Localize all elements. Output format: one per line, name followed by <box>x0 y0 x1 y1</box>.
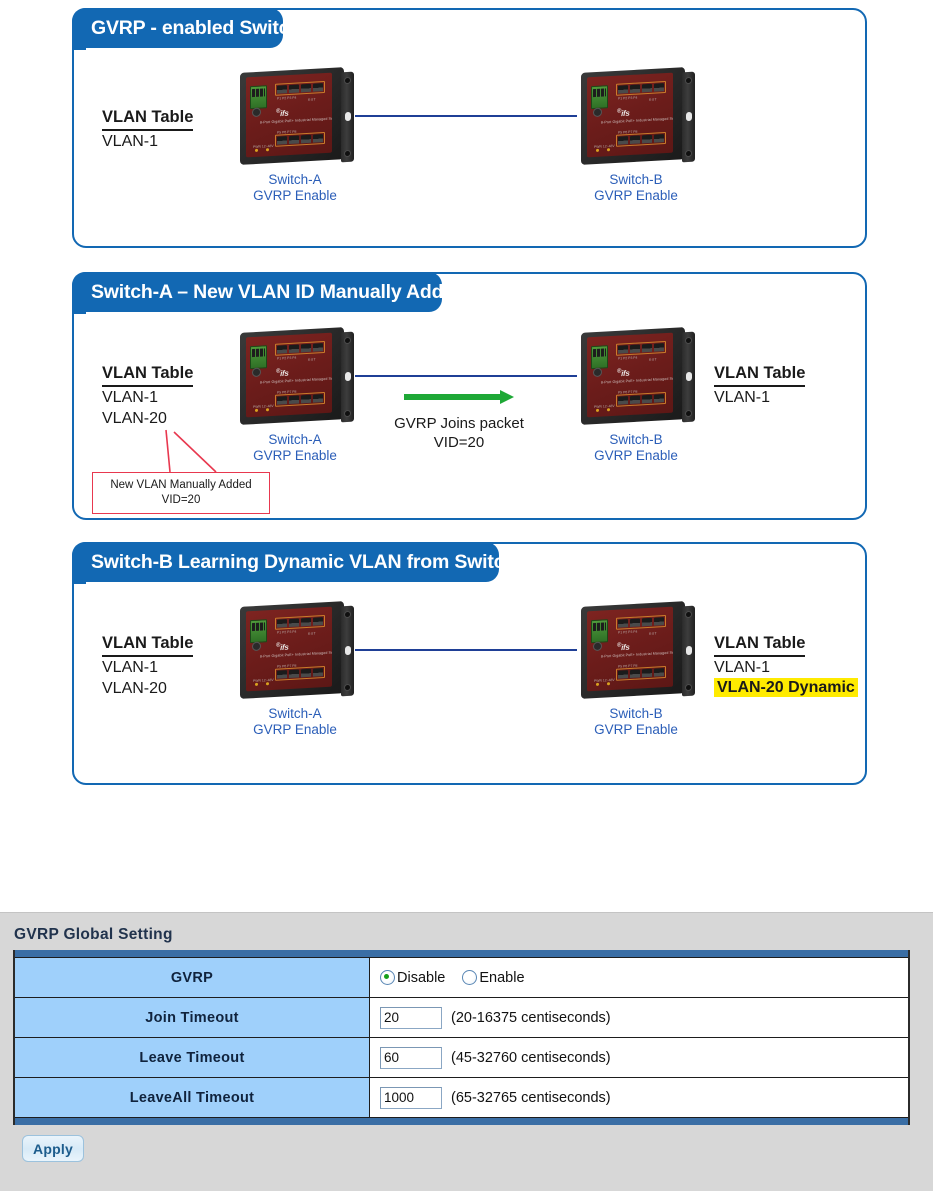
device-reset-label: RST <box>649 357 657 361</box>
link-line-a-to-b <box>355 115 577 117</box>
diagram-panel-switch-b-learning-dynamic-vlan: Switch-B Learning Dynamic VLAN from Swit… <box>72 542 867 785</box>
diagram-panel-new-vlan-manually-added: Switch-A – New VLAN ID Manually Added VL… <box>72 272 867 520</box>
vlan-table-left: VLAN Table VLAN-1 <box>102 108 193 152</box>
link-line-a-to-b <box>355 375 577 377</box>
callout-line-1: New VLAN Manually Added <box>101 478 261 493</box>
switch-device-b-image: P1 P2 P3 P4 P5 P6 P7 P8 RST PWR 12~48V ®… <box>577 602 695 700</box>
panel-body: VLAN Table VLAN-1 P1 P2 P3 P4 P5 P6 P7 P… <box>74 50 865 246</box>
switch-b-state: GVRP Enable <box>575 448 697 464</box>
table-bottom-band <box>14 1118 909 1126</box>
switch-b-name: Switch-B <box>575 172 697 188</box>
gvrp-radio-group[interactable]: Disable Enable <box>380 970 907 986</box>
gvrp-join-label: GVRP Joins packet VID=20 <box>380 414 538 452</box>
device-model-text: 8-Port Gigabit PoE+ Industrial Managed S… <box>601 117 669 125</box>
link-line-a-to-b <box>355 649 577 651</box>
switch-a-caption: Switch-A GVRP Enable <box>234 432 356 464</box>
switch-a-name: Switch-A <box>234 432 356 448</box>
gvrp-global-setting-panel: GVRP Global Setting GVRP Disable Enable <box>0 912 933 1191</box>
switch-b-name: Switch-B <box>575 432 697 448</box>
vlan-table-row: VLAN-1 <box>714 387 805 408</box>
device-reset-label: RST <box>308 97 316 101</box>
switch-a-state: GVRP Enable <box>234 188 356 204</box>
vlan-table-heading: VLAN Table <box>102 634 193 657</box>
table-row-leaveall-timeout: LeaveAll Timeout (65-32765 centiseconds) <box>14 1078 909 1118</box>
join-timeout-input[interactable] <box>380 1007 442 1029</box>
ifs-logo: ®ifs <box>276 368 289 378</box>
ifs-logo: ®ifs <box>617 108 630 118</box>
device-model-text: 8-Port Gigabit PoE+ Industrial Managed S… <box>260 377 328 385</box>
ifs-logo: ®ifs <box>617 642 630 652</box>
callout-new-vlan: New VLAN Manually Added VID=20 <box>92 472 270 514</box>
device-model-text: 8-Port Gigabit PoE+ Industrial Managed S… <box>601 651 669 659</box>
vlan-table-heading: VLAN Table <box>714 364 805 387</box>
device-reset-label: RST <box>308 631 316 635</box>
device-reset-label: RST <box>308 357 316 361</box>
switch-device-a-image: P1 P2 P3 P4 P5 P6 P7 P8 RST PWR 12~48V ®… <box>236 68 354 166</box>
device-model-text: 8-Port Gigabit PoE+ Industrial Managed S… <box>601 377 669 385</box>
switch-device-a-image: P1 P2 P3 P4 P5 P6 P7 P8 RST PWR 12~48V ®… <box>236 328 354 426</box>
diagram-panel-gvrp-enabled-switches: GVRP - enabled Switches VLAN Table VLAN-… <box>72 8 867 248</box>
leave-timeout-input[interactable] <box>380 1047 442 1069</box>
table-row-join-timeout: Join Timeout (20-16375 centiseconds) <box>14 998 909 1038</box>
leaveall-timeout-input[interactable] <box>380 1087 442 1109</box>
radio-enable-label: Enable <box>479 970 524 986</box>
ifs-logo: ®ifs <box>276 642 289 652</box>
switch-device-b-image: P1 P2 P3 P4 P5 P6 P7 P8 RST PWR 12~48V ®… <box>577 68 695 166</box>
vlan-table-row: VLAN-1 <box>102 131 193 152</box>
row-label-leaveall-timeout: LeaveAll Timeout <box>14 1078 370 1118</box>
vlan-table-right: VLAN Table VLAN-1 <box>714 364 805 408</box>
row-value-leave-timeout: (45-32760 centiseconds) <box>370 1038 910 1078</box>
switch-a-caption: Switch-A GVRP Enable <box>234 172 356 204</box>
panel-title: Switch-A – New VLAN ID Manually Added <box>72 272 442 312</box>
table-top-band <box>14 950 909 958</box>
radio-option-disable[interactable]: Disable <box>380 970 445 986</box>
device-model-text: 8-Port Gigabit PoE+ Industrial Managed S… <box>260 651 328 659</box>
callout-line-2: VID=20 <box>101 493 261 508</box>
gvrp-settings-table: GVRP Disable Enable Join Timeout <box>13 950 910 1125</box>
ifs-logo: ®ifs <box>276 108 289 118</box>
radio-disable-label: Disable <box>397 970 445 986</box>
device-reset-label: RST <box>649 631 657 635</box>
vlan-table-heading: VLAN Table <box>102 108 193 131</box>
row-value-gvrp: Disable Enable <box>370 958 910 998</box>
ifs-logo: ®ifs <box>617 368 630 378</box>
gvrp-join-label-line-2: VID=20 <box>380 433 538 452</box>
switch-a-name: Switch-A <box>234 172 356 188</box>
radio-disable-indicator[interactable] <box>380 970 395 985</box>
panel-body: VLAN Table VLAN-1 VLAN-20 New VLAN Manua… <box>74 314 865 518</box>
device-port-labels-top: P1 P2 P3 P4 <box>618 356 637 361</box>
panel-body: VLAN Table VLAN-1 VLAN-20 P1 P2 P3 P4 P5… <box>74 584 865 783</box>
vlan-table-heading: VLAN Table <box>714 634 805 657</box>
vlan-table-row: VLAN-1 <box>102 657 193 678</box>
switch-b-caption: Switch-B GVRP Enable <box>575 706 697 738</box>
table-row-gvrp: GVRP Disable Enable <box>14 958 909 998</box>
switch-a-state: GVRP Enable <box>234 722 356 738</box>
device-port-labels-top: P1 P2 P3 P4 <box>618 630 637 635</box>
vlan-table-left: VLAN Table VLAN-1 VLAN-20 <box>102 634 193 698</box>
switch-a-name: Switch-A <box>234 706 356 722</box>
switch-b-state: GVRP Enable <box>575 188 697 204</box>
device-reset-label: RST <box>649 97 657 101</box>
leaveall-timeout-hint: (65-32765 centiseconds) <box>451 1090 611 1106</box>
apply-button[interactable]: Apply <box>22 1135 84 1162</box>
device-port-labels-top: P1 P2 P3 P4 <box>277 96 296 101</box>
device-port-labels-top: P1 P2 P3 P4 <box>618 96 637 101</box>
switch-b-caption: Switch-B GVRP Enable <box>575 432 697 464</box>
row-value-join-timeout: (20-16375 centiseconds) <box>370 998 910 1038</box>
radio-enable-indicator[interactable] <box>462 970 477 985</box>
page-title: GVRP Global Setting <box>14 926 173 944</box>
vlan-table-row: VLAN-20 <box>102 678 193 699</box>
table-row-leave-timeout: Leave Timeout (45-32760 centiseconds) <box>14 1038 909 1078</box>
vlan-table-row-dynamic-highlight: VLAN-20 Dynamic <box>714 678 858 698</box>
switch-b-caption: Switch-B GVRP Enable <box>575 172 697 204</box>
switch-device-a-image: P1 P2 P3 P4 P5 P6 P7 P8 RST PWR 12~48V ®… <box>236 602 354 700</box>
row-label-gvrp: GVRP <box>14 958 370 998</box>
join-timeout-hint: (20-16375 centiseconds) <box>451 1010 611 1026</box>
switch-b-state: GVRP Enable <box>575 722 697 738</box>
row-label-join-timeout: Join Timeout <box>14 998 370 1038</box>
vlan-table-right: VLAN Table VLAN-1 VLAN-20 Dynamic <box>714 634 858 697</box>
switch-a-state: GVRP Enable <box>234 448 356 464</box>
device-model-text: 8-Port Gigabit PoE+ Industrial Managed S… <box>260 117 328 125</box>
switch-device-b-image: P1 P2 P3 P4 P5 P6 P7 P8 RST PWR 12~48V ®… <box>577 328 695 426</box>
row-value-leaveall-timeout: (65-32765 centiseconds) <box>370 1078 910 1118</box>
gvrp-join-arrow <box>404 390 514 404</box>
switch-b-name: Switch-B <box>575 706 697 722</box>
radio-option-enable[interactable]: Enable <box>462 970 524 986</box>
device-port-labels-top: P1 P2 P3 P4 <box>277 630 296 635</box>
device-port-labels-top: P1 P2 P3 P4 <box>277 356 296 361</box>
panel-title: Switch-B Learning Dynamic VLAN from Swit… <box>72 542 499 582</box>
panel-title: GVRP - enabled Switches <box>72 8 283 48</box>
gvrp-diagram: GVRP - enabled Switches VLAN Table VLAN-… <box>0 0 933 900</box>
gvrp-join-label-line-1: GVRP Joins packet <box>380 414 538 433</box>
switch-a-caption: Switch-A GVRP Enable <box>234 706 356 738</box>
row-label-leave-timeout: Leave Timeout <box>14 1038 370 1078</box>
vlan-table-row: VLAN-1 <box>714 657 858 678</box>
leave-timeout-hint: (45-32760 centiseconds) <box>451 1050 611 1066</box>
